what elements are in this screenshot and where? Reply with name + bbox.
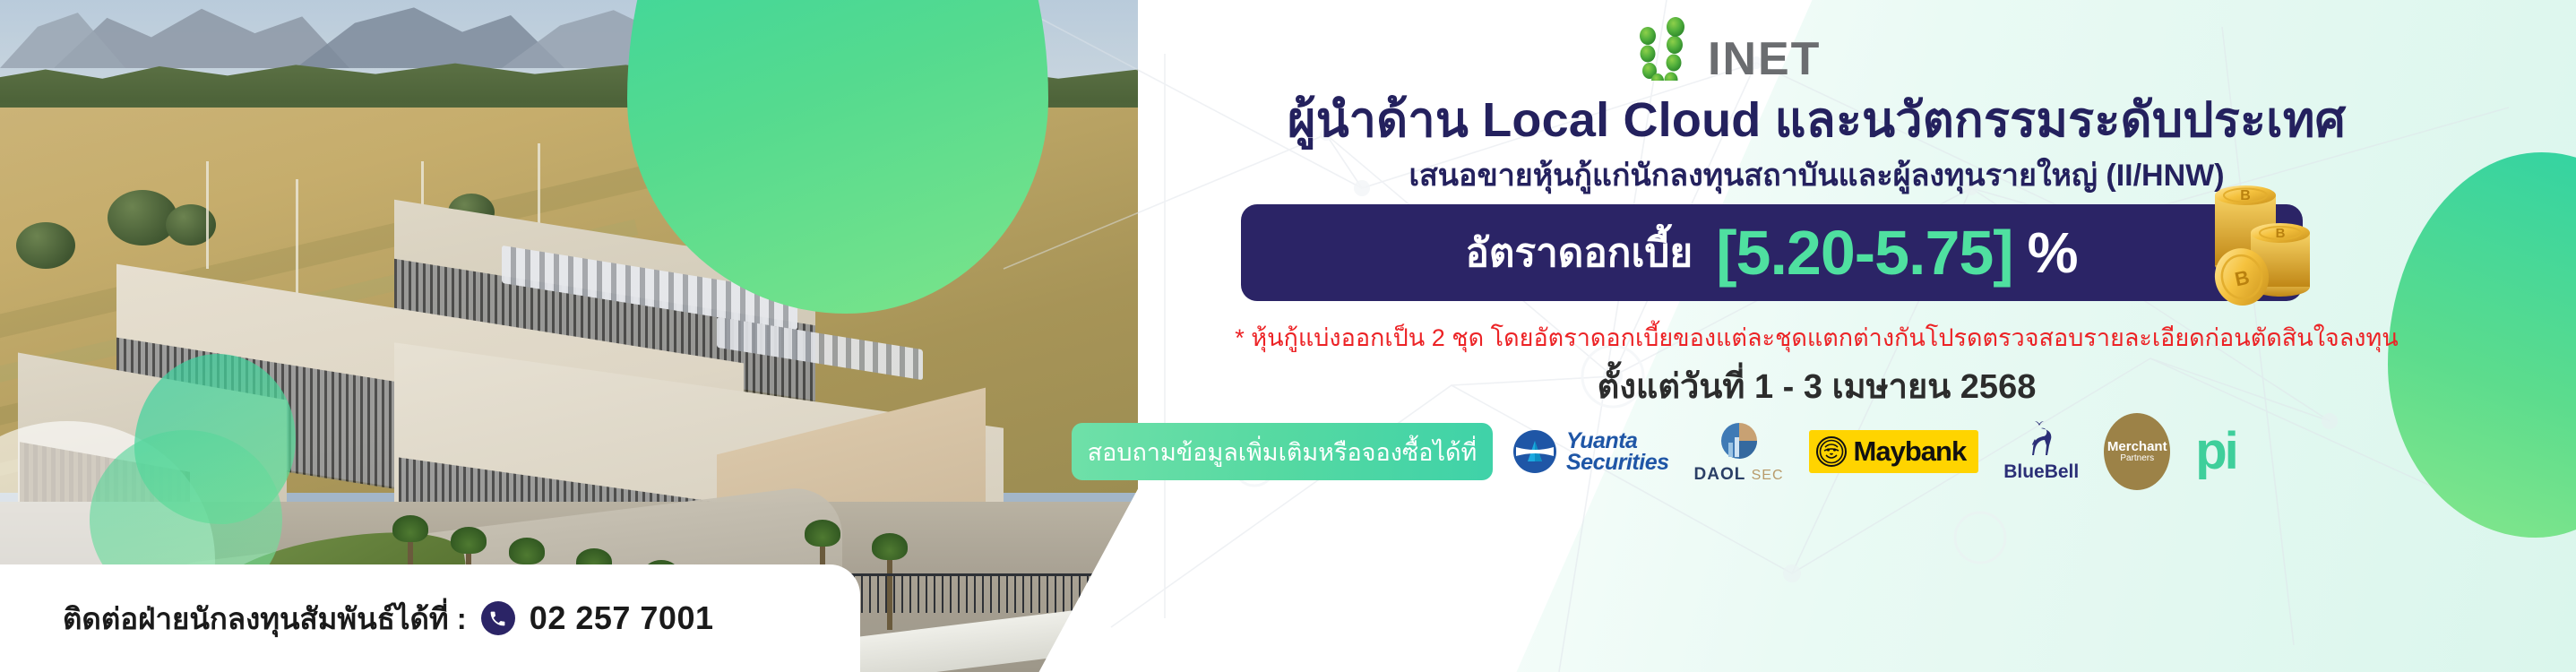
contact-phone-number: 02 257 7001 bbox=[530, 599, 714, 637]
bluebell-wordmark: BlueBell bbox=[2003, 461, 2079, 483]
merchant-line2: Partners bbox=[2120, 454, 2154, 464]
banner-content: INET ผู้นำด้าน Local Cloud และนวัตกรรมระ… bbox=[1057, 0, 2576, 672]
phone-icon bbox=[481, 601, 515, 635]
pi-wordmark: pi bbox=[2195, 431, 2236, 472]
svg-text:B: B bbox=[2276, 226, 2286, 241]
partner-logo-merchant-partners[interactable]: Merchant Partners bbox=[2104, 420, 2170, 483]
interest-rate-value: [5.20-5.75] bbox=[1716, 217, 2012, 289]
partner-logo-bluebell[interactable]: BlueBell bbox=[2003, 420, 2079, 483]
inet-logo[interactable]: INET bbox=[1631, 16, 2007, 81]
interest-rate-box: อัตราดอกเบี้ย [5.20-5.75] % bbox=[1241, 204, 2303, 301]
gold-coin-stack-icon: B B B bbox=[2202, 172, 2328, 324]
partner-logo-pi[interactable]: pi bbox=[2195, 420, 2236, 483]
partner-logo-daol[interactable]: DAOL SEC bbox=[1694, 420, 1784, 483]
offering-date: ตั้งแต่วันที่ 1 - 3 เมษายน 2568 bbox=[1057, 358, 2576, 413]
inet-dots-logo-icon bbox=[1631, 16, 1708, 81]
contact-label: ติดต่อฝ่ายนักลงทุนสัมพันธ์ได้ที่ : bbox=[63, 595, 467, 642]
footnote-text: * หุ้นกู้แบ่งออกเป็น 2 ชุด โดยอัตราดอกเบ… bbox=[1057, 318, 2576, 357]
interest-rate-unit: % bbox=[2028, 220, 2079, 286]
daol-line2: SEC bbox=[1752, 468, 1784, 483]
merchant-line1: Merchant bbox=[2107, 440, 2167, 454]
inet-wordmark: INET bbox=[1708, 32, 1821, 86]
inquiry-cta-label: สอบถามข้อมูลเพิ่มเติมหรือจองซื้อได้ที่ bbox=[1088, 433, 1478, 471]
interest-rate-label: อัตราดอกเบี้ย bbox=[1465, 221, 1693, 284]
maybank-tiger-icon bbox=[1816, 436, 1847, 467]
utility-pole bbox=[206, 161, 209, 269]
cta-and-partners-row: สอบถามข้อมูลเพิ่มเติมหรือจองซื้อได้ที่ bbox=[1072, 419, 2576, 484]
partner-logo-maybank[interactable]: Maybank bbox=[1809, 420, 1979, 483]
page-title: ผู้นำด้าน Local Cloud และนวัตกรรมระดับปร… bbox=[1057, 81, 2576, 158]
partner-logos: Yuanta Securities bbox=[1512, 420, 2236, 483]
page-subtitle: เสนอขายหุ้นกู้แก่นักลงทุนสถาบันและผู้ลงท… bbox=[1057, 151, 2576, 199]
utility-pole bbox=[296, 179, 298, 296]
promo-banner: INET ผู้นำด้าน Local Cloud และนวัตกรรมระ… bbox=[0, 0, 2576, 672]
tree-grove bbox=[16, 222, 75, 269]
merchant-oval-icon: Merchant Partners bbox=[2104, 413, 2170, 490]
partner-logo-yuanta[interactable]: Yuanta Securities bbox=[1512, 420, 1669, 483]
bluebell-deer-icon bbox=[2021, 420, 2061, 460]
yuanta-mark-icon bbox=[1512, 429, 1557, 474]
maybank-wordmark: Maybank bbox=[1854, 435, 1967, 468]
yuanta-line2: Securities bbox=[1566, 452, 1669, 473]
daol-line1: DAOL bbox=[1694, 465, 1746, 484]
daol-pie-icon bbox=[1713, 419, 1765, 462]
svg-text:B: B bbox=[2240, 188, 2251, 203]
inquiry-cta-button[interactable]: สอบถามข้อมูลเพิ่มเติมหรือจองซื้อได้ที่ bbox=[1072, 423, 1493, 480]
contact-card: ติดต่อฝ่ายนักลงทุนสัมพันธ์ได้ที่ : 02 25… bbox=[0, 564, 860, 672]
